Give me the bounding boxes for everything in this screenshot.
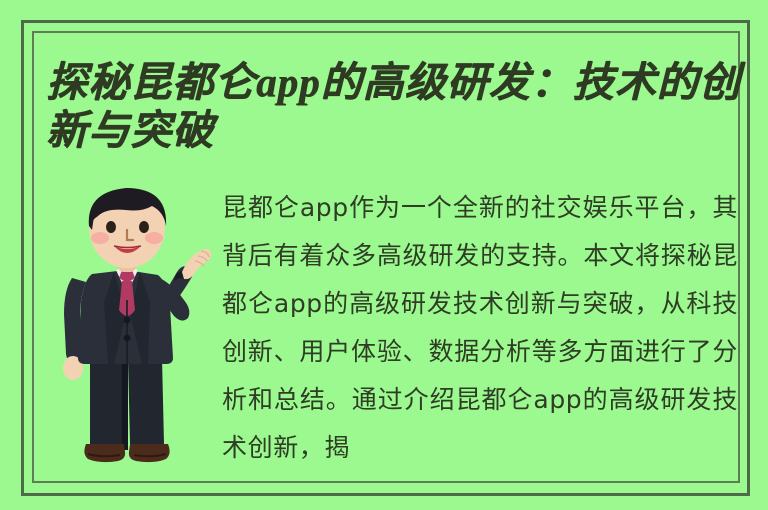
- businessman-figure-icon: [56, 182, 214, 482]
- page-title: 探秘昆都仑app的高级研发：技术的创新与突破: [46, 58, 746, 154]
- body-paragraph: 昆都仑app作为一个全新的社交娱乐平台，其背后有着众多高级研发的支持。本文将探秘…: [222, 184, 738, 476]
- poster-canvas: 探秘昆都仑app的高级研发：技术的创新与突破: [0, 0, 768, 510]
- businessman-illustration: [56, 182, 214, 482]
